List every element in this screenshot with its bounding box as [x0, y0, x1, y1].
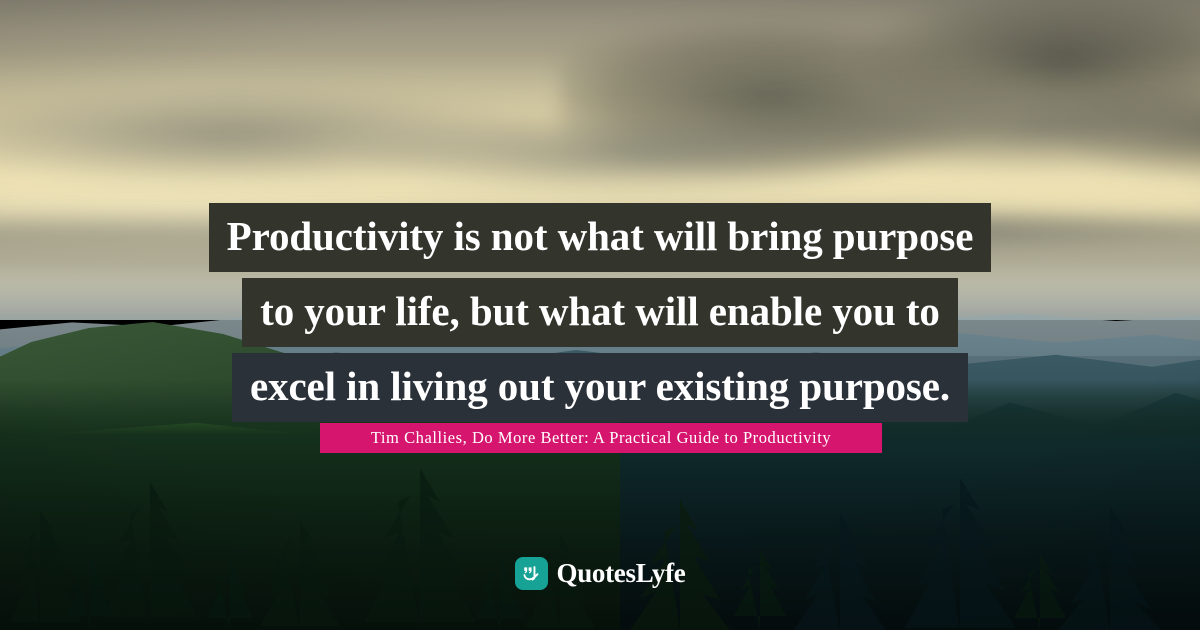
quote-text-block: Productivity is not what will bring purp… [0, 203, 1200, 422]
brand-logo[interactable]: QuotesLyfe [0, 557, 1200, 590]
brand-name: QuotesLyfe [557, 558, 686, 589]
attribution-bar: Tim Challies, Do More Better: A Practica… [320, 423, 882, 453]
quote-line-2: to your life, but what will enable you t… [242, 278, 958, 347]
quote-line-1: Productivity is not what will bring purp… [209, 203, 992, 272]
quote-smiley-icon [515, 557, 548, 590]
attribution-text: Tim Challies, Do More Better: A Practica… [371, 428, 831, 448]
quote-line-3: excel in living out your existing purpos… [232, 353, 968, 422]
quote-image-card: Productivity is not what will bring purp… [0, 0, 1200, 630]
